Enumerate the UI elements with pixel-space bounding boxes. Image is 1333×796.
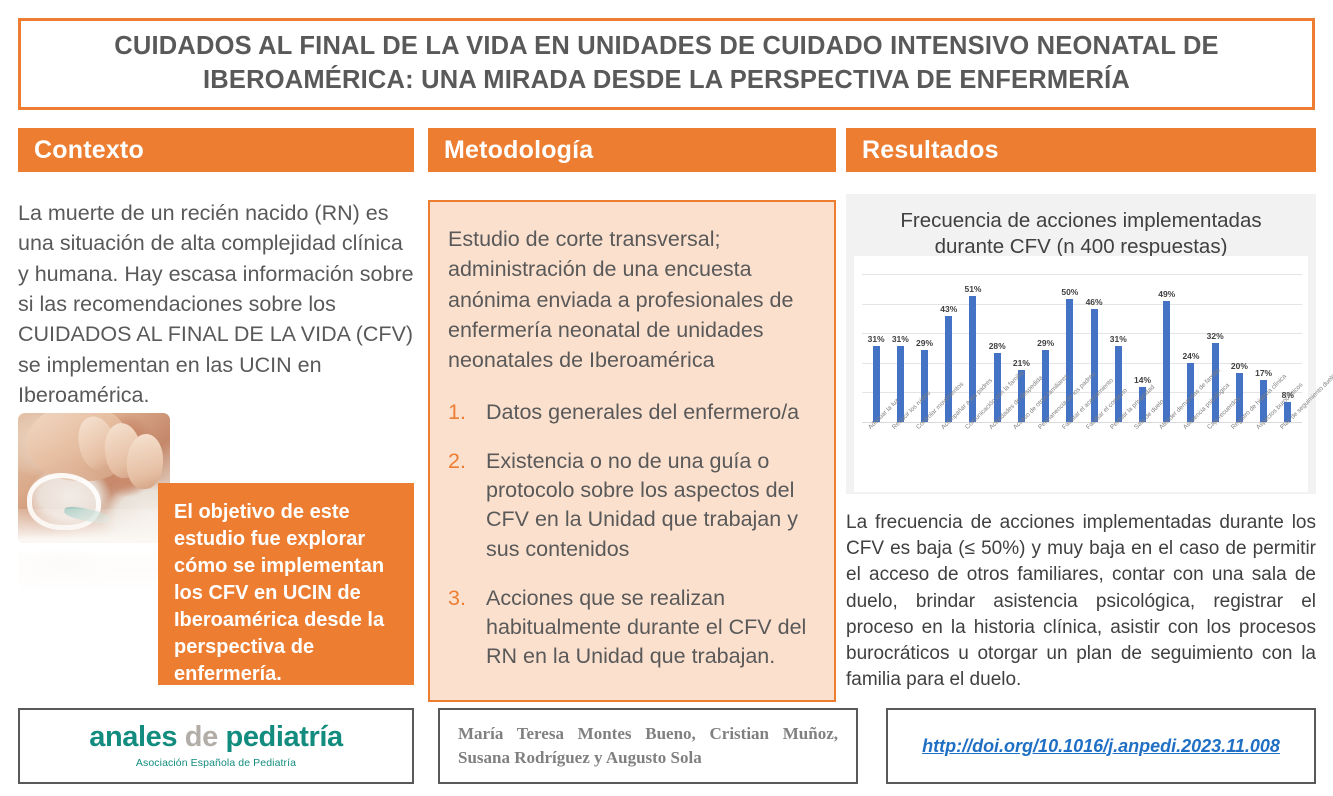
chart-bar <box>994 353 1001 422</box>
poster-title-banner: CUIDADOS AL FINAL DE LA VIDA EN UNIDADES… <box>18 18 1315 110</box>
list-item-text: Acciones que se realizan habitualmente d… <box>486 584 816 672</box>
chart-category-slot: Facilitar el acercamiento <box>1058 424 1082 494</box>
authors-list: María Teresa Montes Bueno, Cristian Muño… <box>458 722 838 770</box>
chart-bar-value-label: 20% <box>1231 361 1248 371</box>
chart-category-slot: Controlar movimientos <box>912 424 936 494</box>
list-item: 2. Existencia o no de una guía o protoco… <box>448 447 816 564</box>
column-resultados: Resultados Frecuencia de acciones implem… <box>846 128 1316 694</box>
chart-bar-value-label: 32% <box>1207 331 1224 341</box>
chart-category-slot: Acompañar a los padres <box>937 424 961 494</box>
chart-category-slot: Reducir los ruidos <box>888 424 912 494</box>
chart-category-slot: Comunicación con la familia <box>961 424 985 494</box>
chart-category-slot: Asistencia psicológica <box>1179 424 1203 494</box>
chart-category-slot: Atender demandas de familia <box>1155 424 1179 494</box>
chart-bar <box>1042 350 1049 422</box>
chart-bar-value-label: 50% <box>1061 287 1078 297</box>
chart-category-slot: Sala de duelo <box>1130 424 1154 494</box>
chart-bar-value-label: 43% <box>940 304 957 314</box>
chart-category-slot: Permanencia de los padres <box>1034 424 1058 494</box>
chart-bar-value-label: 46% <box>1086 297 1103 307</box>
chart-bar-value-label: 28% <box>989 341 1006 351</box>
journal-logo-subtitle: Asociación Española de Pediatría <box>136 757 296 769</box>
list-item-number: 2. <box>448 447 486 564</box>
section-header-metodologia: Metodología <box>428 128 836 172</box>
objective-text: El objetivo de este estudio fue explorar… <box>174 499 400 688</box>
column-metodologia: Metodología Estudio de corte transversal… <box>428 128 836 702</box>
chart-bar-value-label: 31% <box>892 334 909 344</box>
chart-bar-value-label: 14% <box>1134 375 1151 385</box>
metodologia-content-box: Estudio de corte transversal; administra… <box>428 200 836 702</box>
list-item: 3. Acciones que se realizan habitualment… <box>448 584 816 672</box>
contexto-body-text: La muerte de un recién nacido (RN) es un… <box>18 198 414 410</box>
resultados-conclusion-text: La frecuencia de acciones implementadas … <box>846 510 1316 694</box>
objective-callout-box: El objetivo de este estudio fue explorar… <box>158 483 414 685</box>
chart-bar-value-label: 49% <box>1158 289 1175 299</box>
page-title: CUIDADOS AL FINAL DE LA VIDA EN UNIDADES… <box>47 30 1286 97</box>
metodologia-intro-text: Estudio de corte transversal; administra… <box>448 224 816 376</box>
chart-category-slot: Acceso de otros familiares <box>1009 424 1033 494</box>
list-item-text: Existencia o no de una guía o protocolo … <box>486 447 816 564</box>
chart-bar-value-label: 29% <box>916 338 933 348</box>
journal-logo-wordmark: anales de pediatría <box>89 723 343 752</box>
chart-bar-value-label: 24% <box>1182 351 1199 361</box>
chart-bar <box>945 316 952 422</box>
list-item-number: 3. <box>448 584 486 672</box>
metodologia-numbered-list: 1. Datos generales del enfermero/a 2. Ex… <box>448 398 816 672</box>
logo-word-pediatria: pediatría <box>226 721 343 753</box>
authors-box: María Teresa Montes Bueno, Cristian Muño… <box>438 708 858 784</box>
section-header-resultados: Resultados <box>846 128 1316 172</box>
chart-category-slot: Facilitar el contacto <box>1082 424 1106 494</box>
chart-bar <box>1212 343 1219 422</box>
chart-bar <box>921 350 928 422</box>
neonate-photo-figure <box>18 413 170 593</box>
chart-bar <box>1115 346 1122 422</box>
doi-link[interactable]: http://doi.org/10.1016/j.anpedi.2023.11.… <box>922 736 1280 757</box>
section-header-contexto-label: Contexto <box>34 136 144 165</box>
list-item-text: Datos generales del enfermero/a <box>486 398 816 427</box>
chart-category-labels: Adecuar la luzReducir los ruidosControla… <box>862 424 1302 494</box>
section-header-metodologia-label: Metodología <box>444 136 593 165</box>
results-bar-chart-card: Frecuencia de acciones implementadas dur… <box>846 194 1316 494</box>
chart-bar <box>873 346 880 422</box>
list-item-number: 1. <box>448 398 486 427</box>
section-header-contexto: Contexto <box>18 128 414 172</box>
chart-bar-value-label: 29% <box>1037 338 1054 348</box>
doi-box: http://doi.org/10.1016/j.anpedi.2023.11.… <box>886 708 1316 784</box>
chart-category-slot: Actividades de despedida <box>985 424 1009 494</box>
journal-logo: anales de pediatría Asociación Española … <box>89 723 343 769</box>
chart-bar-value-label: 21% <box>1013 358 1030 368</box>
chart-bar-value-label: 31% <box>1110 334 1127 344</box>
logo-word-anales: anales <box>89 721 177 753</box>
chart-bar <box>897 346 904 422</box>
logo-word-de: de <box>185 721 218 753</box>
chart-bar-value-label: 17% <box>1255 368 1272 378</box>
section-header-resultados-label: Resultados <box>862 136 999 165</box>
column-contexto: Contexto La muerte de un recién nacido (… <box>18 128 414 410</box>
chart-category-slot: Permitir la privacidad <box>1106 424 1130 494</box>
journal-logo-box: anales de pediatría Asociación Española … <box>18 708 414 784</box>
chart-plot: 31%31%29%43%51%28%21%29%50%46%31%14%49%2… <box>854 256 1308 492</box>
chart-category-slot: Adecuar la luz <box>864 424 888 494</box>
photo-reflection <box>18 543 170 591</box>
chart-category-slot: Aspectos burocráticos <box>1252 424 1276 494</box>
chart-bar-slot: 31% <box>864 274 888 422</box>
neonate-photo-image <box>18 413 170 543</box>
chart-bar-value-label: 51% <box>964 284 981 294</box>
list-item: 1. Datos generales del enfermero/a <box>448 398 816 427</box>
chart-category-slot: Caja recuerdos <box>1203 424 1227 494</box>
chart-category-slot: Plan de seguimiento duelo <box>1276 424 1300 494</box>
chart-bar-value-label: 31% <box>868 334 885 344</box>
blanket-shape <box>18 509 170 543</box>
chart-category-slot: Registro de historia clínica <box>1227 424 1251 494</box>
chart-title: Frecuencia de acciones implementadas dur… <box>846 202 1316 261</box>
